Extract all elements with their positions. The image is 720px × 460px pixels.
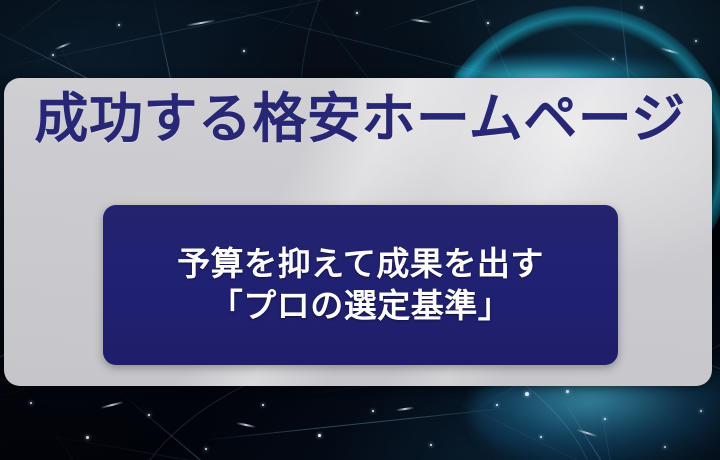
subtitle-line-1: 予算を抑えて成果を出す bbox=[177, 243, 544, 285]
banner-image: 成功する格安ホームページ 予算を抑えて成果を出す 「プロの選定基準」 bbox=[0, 0, 720, 460]
subtitle-line-2: 「プロの選定基準」 bbox=[210, 285, 512, 327]
subtitle-box: 予算を抑えて成果を出す 「プロの選定基準」 bbox=[103, 205, 618, 365]
page-title: 成功する格安ホームページ bbox=[0, 92, 720, 146]
